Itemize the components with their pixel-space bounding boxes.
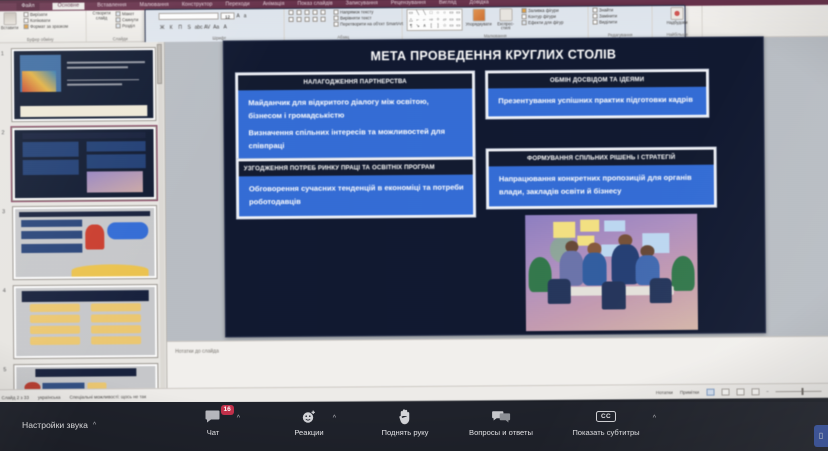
scrollbar-thumb[interactable] [157,44,162,84]
view-normal-button[interactable] [706,388,714,395]
addins-button[interactable]: Надбудови [666,7,688,25]
chat-button[interactable]: 16 Чат ^ [176,408,250,437]
current-slide[interactable]: МЕТА ПРОВЕДЕННЯ КРУГЛИХ СТОЛІВ НАЛАГОДЖЕ… [223,36,766,337]
meeting-controls[interactable]: 16 Чат ^ Реакции ^ [0,408,828,437]
card-line: Напрацювання конкретних пропозицій для о… [499,172,706,199]
ribbon-tab-review[interactable]: Рецензування [391,0,426,6]
card-heading: ОБМІН ДОСВІДОМ ТА ІДЕЯМИ [488,72,706,89]
slide-counter: Слайд 2 з 33 [2,395,29,400]
reactions-icon [301,408,317,425]
paste-button[interactable]: Вставити [0,12,21,30]
quick-styles-button[interactable]: Експрес-стилі [495,8,517,31]
replace-icon [593,14,598,19]
arrange-icon [472,8,485,21]
reset-icon [116,17,121,22]
shape-fill-button[interactable]: Заливка фігури [522,8,564,13]
find-button[interactable]: Знайти [593,7,618,12]
chevron-up-icon[interactable]: ^ [653,415,656,422]
ribbon-group-paragraph[interactable]: Напрямок тексту Вирівняти текст Перетвор… [285,8,403,40]
language-indicator[interactable]: українська [38,394,61,399]
decrease-indent-icon[interactable] [305,10,310,15]
content-card-labour-market[interactable]: УЗГОДЖЕННЯ ПОТРЕБ РИНКУ ПРАЦІ ТА ОСВІТНІ… [237,158,475,219]
reactions-button[interactable]: Реакции ^ [272,408,346,437]
cc-label: CC [596,411,615,422]
qa-button[interactable]: Вопросы и ответы [464,408,538,437]
cut-button[interactable]: Вирізати [24,12,69,17]
comments-toggle[interactable]: Примітки [680,389,699,394]
ribbon-tab-slideshow[interactable]: Показ слайдів [297,0,332,6]
clipboard-icon [3,12,16,25]
text-direction-icon [334,10,339,15]
outline-icon [522,14,527,19]
underline-button[interactable]: П [177,25,184,31]
line-spacing-icon[interactable] [321,10,326,15]
monitor-surface: Файл Основне Вставлення Малювання Констр… [0,0,828,404]
card-body: Презентування успішних практик підготовк… [488,87,706,116]
char-spacing-button[interactable]: AV [204,25,211,31]
shape-effects-button[interactable]: Ефекти для фігур [522,20,564,25]
addins-label: Надбудови [667,20,688,25]
new-slide-label: Створити слайд [91,11,113,20]
strikethrough-button[interactable]: abc [195,25,202,31]
ribbon-tab-view[interactable]: Вигляд [439,0,457,5]
increase-indent-icon[interactable] [313,10,318,15]
search-icon [593,8,598,13]
quick-styles-icon [499,8,512,21]
slide-title: МЕТА ПРОВЕДЕННЯ КРУГЛИХ СТОЛІВ [224,46,763,64]
group-label-slides: Слайди [87,36,154,42]
thumbnail-number: 3 [2,209,5,215]
smartart-icon [334,22,339,27]
align-right-icon[interactable] [305,17,310,22]
card-body: Обговорення сучасних тенденцій в економі… [239,175,473,217]
arrange-label: Упорядкувати [466,22,492,27]
slide-thumbnail[interactable]: 4 [13,284,159,359]
chevron-up-icon[interactable]: ^ [333,415,336,422]
new-slide-button[interactable]: Створити слайд [91,11,113,20]
quick-styles-label: Експрес-стилі [495,22,517,31]
raise-hand-label: Поднять руку [382,428,429,437]
bullets-icon[interactable] [289,10,294,15]
thumbnail-number: 2 [1,130,4,136]
ribbon-tab-record[interactable]: Записування [346,0,378,6]
decrease-font-icon[interactable]: a [242,13,249,19]
captions-button[interactable]: CC Показать субтитры ^ [560,408,652,437]
chevron-up-icon[interactable]: ^ [237,415,240,422]
ribbon-group-slides[interactable]: Створити слайд Макет Скинути Розділ Слай… [87,10,155,42]
slide-illustration[interactable] [525,214,698,331]
brush-icon [24,24,29,29]
view-reading-button[interactable] [736,388,744,395]
content-card-joint-solutions[interactable]: ФОРМУВАННЯ СПІЛЬНИХ РІШЕНЬ І СТРАТЕГІЙ Н… [487,148,716,209]
card-body: Напрацювання конкретних пропозицій для о… [489,165,714,207]
thumbnail-number: 1 [1,51,4,57]
copy-icon [24,18,29,23]
thumbnail-preview [14,50,154,119]
ribbon-tab-transitions[interactable]: Переходи [225,1,249,7]
paste-label: Вставити [1,26,19,31]
chat-icon: 16 [205,408,222,425]
slide-thumbnail[interactable]: 3 [12,205,158,280]
captions-label: Показать субтитры [572,428,639,437]
content-card-partnership[interactable]: НАЛАГОДЖЕННЯ ПАРТНЕРСТВА Майданчик для в… [236,72,475,163]
chat-unread-badge: 16 [221,405,234,415]
effects-icon [522,20,527,25]
shadow-button[interactable]: S [186,25,193,31]
card-line: Обговорення сучасних тенденцій в економі… [249,182,465,209]
zoom-slider-knob[interactable] [802,387,804,394]
align-left-icon[interactable] [289,17,294,22]
reactions-label: Реакции [294,428,323,437]
ribbon-tab-animations[interactable]: Анімація [263,1,285,7]
font-name-input[interactable] [159,13,219,20]
ribbon-group-drawing[interactable]: ▭╲╲□○○▭▭ △⌐⌐⇨✧▱▭▭ ¶↘∧[]☆▭▭ Упорядкувати … [403,7,589,39]
section-button[interactable]: Розділ [116,24,139,29]
slide-canvas-area: МЕТА ПРОВЕДЕННЯ КРУГЛИХ СТОЛІВ НАЛАГОДЖЕ… [165,37,828,388]
align-center-icon[interactable] [297,17,302,22]
card-line: Майданчик для відкритого діалогу між осв… [248,96,464,123]
text-direction-button[interactable]: Напрямок тексту [334,9,403,15]
align-text-icon [334,16,339,21]
slide-thumbnail[interactable]: 1 [11,47,157,122]
thumbnail-preview [15,208,155,277]
replace-button[interactable]: Замінити [593,14,618,19]
columns-icon[interactable] [321,17,326,22]
accessibility-indicator[interactable]: Спеціальні можливості: щось не так [70,394,147,400]
ribbon-group-editing[interactable]: Знайти Замінити Виділити Редагування [588,6,652,38]
copy-button[interactable]: Копіювати [24,18,69,23]
raise-hand-icon [398,408,413,425]
increase-font-icon[interactable]: A [235,13,242,19]
shape-outline-button[interactable]: Контур фігури [522,14,564,19]
select-button[interactable]: Виділити [593,20,618,25]
reset-button[interactable]: Скинути [116,17,139,22]
ribbon-group-addins[interactable]: Надбудови Найбільше [652,6,702,37]
font-size-input[interactable]: 12 [221,12,235,19]
format-painter-button[interactable]: Формат за зразком [24,24,69,29]
shapes-gallery[interactable]: ▭╲╲□○○▭▭ △⌐⌐⇨✧▱▭▭ ¶↘∧[]☆▭▭ [407,9,463,31]
thumbnail-preview [14,129,154,198]
select-icon [593,20,598,25]
layout-button[interactable]: Макет [116,11,139,16]
font-color-button[interactable]: A [222,24,229,30]
view-sorter-button[interactable] [721,388,729,395]
layout-icon [116,11,121,16]
notes-toggle[interactable]: Нотатки [656,389,673,394]
convert-smartart-button[interactable]: Перетворити на об'єкт SmartArt [334,21,403,27]
align-text-button[interactable]: Вирівняти текст [334,15,403,21]
raise-hand-button[interactable]: Поднять руку [368,408,442,437]
thumbnail-number: 4 [3,288,6,294]
thumbnail-preview [16,287,156,356]
slide-thumbnail[interactable]: 5 [13,363,159,389]
qa-icon [492,408,511,425]
card-line: Визначення спільних інтересів та можливо… [248,126,464,153]
scissors-icon [24,12,29,17]
qa-label: Вопросы и ответы [469,428,533,437]
ribbon-tab-design[interactable]: Конструктор [182,1,213,7]
card-body: Майданчик для відкритого діалогу між осв… [238,89,473,161]
thumbnail-preview [16,366,156,389]
content-card-experience-exchange[interactable]: ОБМІН ДОСВІДОМ ТА ІДЕЯМИ Презентування у… [486,70,708,118]
card-line: Презентування успішних практик підготовк… [498,94,698,108]
italic-button[interactable]: К [168,25,175,31]
notes-pane[interactable]: Нотатки до слайда [167,336,828,388]
teams-meeting-bar[interactable]: Настройки звука ^ 16 Чат ^ [0,402,828,451]
ribbon-tab-help[interactable]: Довідка [469,0,488,5]
cc-icon: CC [596,408,615,425]
slide-thumbnail[interactable]: 2 [11,126,157,201]
ribbon-group-font[interactable]: 12 A a Ж К П S abc AV Aa A [155,9,285,41]
arrange-button[interactable]: Упорядкувати [468,8,490,26]
ribbon-tab-draw[interactable]: Малювання [140,1,169,7]
addins-icon [670,7,683,20]
slide-thumbnail-pane[interactable]: 1 2 [0,42,167,389]
section-icon [116,24,121,29]
photographed-screen: Файл Основне Вставлення Малювання Констр… [0,0,828,451]
ribbon-group-clipboard[interactable]: Вставити Вирізати Копіювати Формат за зр… [0,11,87,43]
ribbon-tab-insert[interactable]: Вставлення [97,2,126,8]
zoom-out-button[interactable]: − [766,389,769,394]
change-case-button[interactable]: Aa [213,25,220,31]
work-area: 1 2 [0,37,828,390]
teams-app-edge-icon[interactable]: ▯ [814,425,828,447]
group-label-clipboard: Буфер обміну [0,37,86,43]
fill-icon [522,8,527,13]
chat-label: Чат [207,428,220,437]
zoom-slider[interactable] [776,390,822,391]
numbering-icon[interactable] [297,10,302,15]
bold-button[interactable]: Ж [159,25,166,31]
card-heading: НАЛАГОДЖЕННЯ ПАРТНЕРСТВА [238,74,472,91]
notes-placeholder: Нотатки до слайда [175,349,219,355]
justify-icon[interactable] [313,17,318,22]
card-heading: ФОРМУВАННЯ СПІЛЬНИХ РІШЕНЬ І СТРАТЕГІЙ [489,150,714,167]
view-slideshow-button[interactable] [751,388,759,395]
card-heading: УЗГОДЖЕННЯ ПОТРЕБ РИНКУ ПРАЦІ ТА ОСВІТНІ… [239,160,473,177]
powerpoint-window: Файл Основне Вставлення Малювання Констр… [0,0,828,404]
thumbnail-number: 5 [3,367,6,373]
